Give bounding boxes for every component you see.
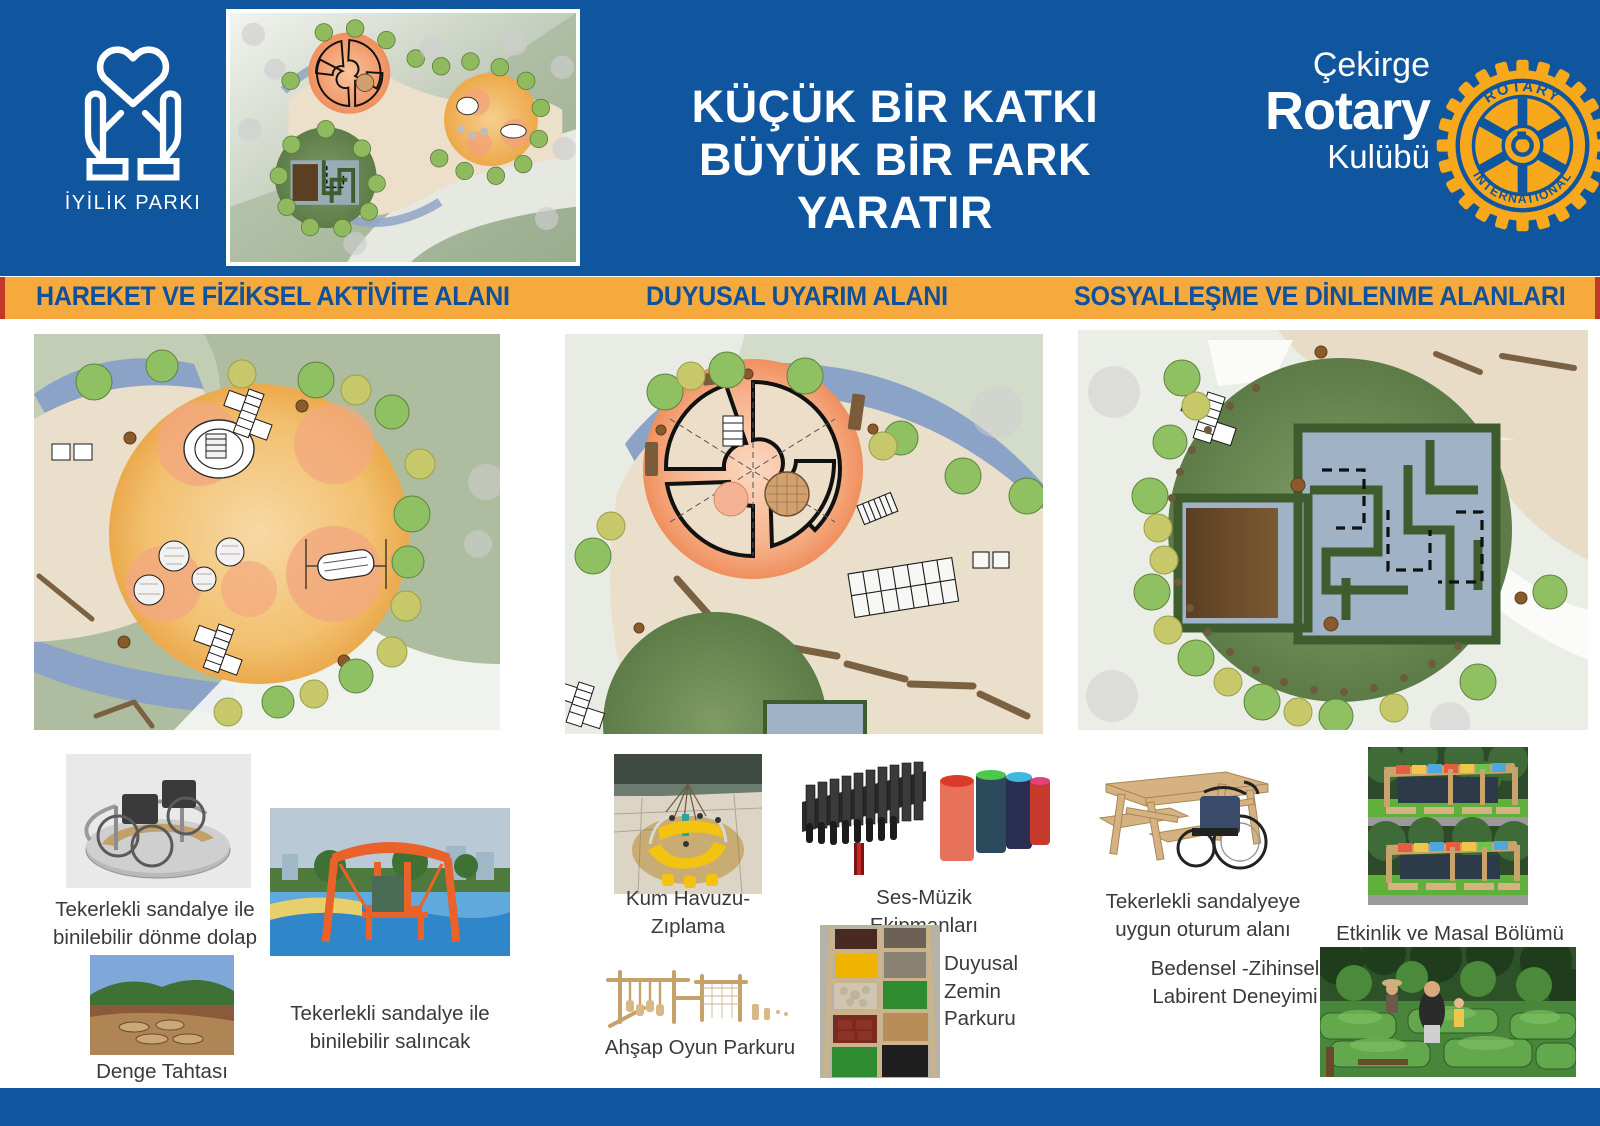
rotary-line-rotary: Rotary [1235, 84, 1430, 139]
brand-name: İYİLİK PARKI [48, 192, 218, 215]
caption-swing-line1: Tekerlekli sandalye ile [272, 1000, 508, 1028]
photo-hedge-labyrinth [1320, 947, 1576, 1077]
caption-labyrinth: Bedensel -Zihinsel Labirent Deneyimi [1130, 955, 1340, 1010]
caption-picnic-line1: Tekerlekli sandalyeye [1088, 888, 1318, 916]
park-masterplan-thumbnail [226, 9, 580, 266]
caption-picnic-line2: uygun oturum alanı [1088, 916, 1318, 944]
photo-music-equipment [790, 755, 1052, 885]
caption-sensory-line1: Duyusal [944, 950, 1054, 978]
photo-wheelchair-swing [270, 808, 510, 956]
band-label-duyusal: DUYUSAL UYARIM ALANI [646, 281, 948, 312]
caption-carousel: Tekerlekli sandalye ile binilebilir dönm… [40, 896, 270, 951]
plan-social [1078, 330, 1588, 730]
plan-sensory [565, 334, 1043, 734]
plan-movement [34, 334, 500, 730]
hands-holding-heart-icon [58, 38, 208, 188]
caption-picnic-table: Tekerlekli sandalyeye uygun oturum alanı [1088, 888, 1318, 943]
band-label-hareket: HAREKET VE FİZİKSEL AKTİVİTE ALANI [36, 281, 510, 312]
photo-balance-board [90, 955, 234, 1055]
caption-wooden-obstacle-course: Ahşap Oyun Parkuru [590, 1034, 810, 1062]
photo-sand-pool [614, 754, 762, 894]
caption-sensory-floor: Duyusal Zemin Parkuru [944, 950, 1054, 1033]
title-line-2: BÜYÜK BİR FARK YARATIR [600, 133, 1190, 239]
title-line-1: KÜÇÜK BİR KATKI [600, 80, 1190, 133]
caption-sensory-line3: Parkuru [944, 1005, 1054, 1033]
photo-event-and-story-pergola [1368, 747, 1528, 905]
caption-swing-line2: binilebilir salıncak [272, 1028, 508, 1056]
page-title: KÜÇÜK BİR KATKI BÜYÜK BİR FARK YARATIR [600, 80, 1190, 239]
photo-wheelchair-carousel [66, 754, 251, 888]
caption-labyrinth-line2: Labirent Deneyimi [1130, 983, 1340, 1011]
caption-pergola: Etkinlik ve Masal Bölümü [1320, 920, 1580, 948]
rotary-club-logo: Çekirge Rotary Kulübü [1235, 48, 1590, 248]
caption-sand-pool: Kum Havuzu-Zıplama [590, 885, 786, 940]
poster-header: İYİLİK PARKI [0, 0, 1600, 276]
caption-carousel-line2: binilebilir dönme dolap [40, 924, 270, 952]
caption-carousel-line1: Tekerlekli sandalye ile [40, 896, 270, 924]
caption-labyrinth-line1: Bedensel -Zihinsel [1130, 955, 1340, 983]
photo-sensory-floor-path [820, 925, 940, 1078]
rotary-wheel-icon: ROTARY INTERNATIONAL [1435, 58, 1600, 233]
photo-accessible-picnic-table [1092, 758, 1302, 876]
band-accent-left [0, 277, 5, 319]
caption-swing: Tekerlekli sandalye ile binilebilir salı… [272, 1000, 508, 1055]
rotary-line-kulubu: Kulübü [1235, 139, 1430, 175]
rotary-line-cekirge: Çekirge [1235, 48, 1430, 84]
caption-sensory-line2: Zemin [944, 978, 1054, 1006]
rotary-wordmark: Çekirge Rotary Kulübü [1235, 48, 1430, 175]
band-accent-right [1595, 277, 1600, 319]
poster-footer [0, 1088, 1600, 1126]
band-label-sosyallesme: SOSYALLEŞME VE DİNLENME ALANLARI [1074, 281, 1565, 312]
caption-balance-board: Denge Tahtası [62, 1058, 262, 1086]
photo-wooden-obstacle-course [604, 960, 794, 1038]
brand-logo-block: İYİLİK PARKI [48, 38, 218, 238]
